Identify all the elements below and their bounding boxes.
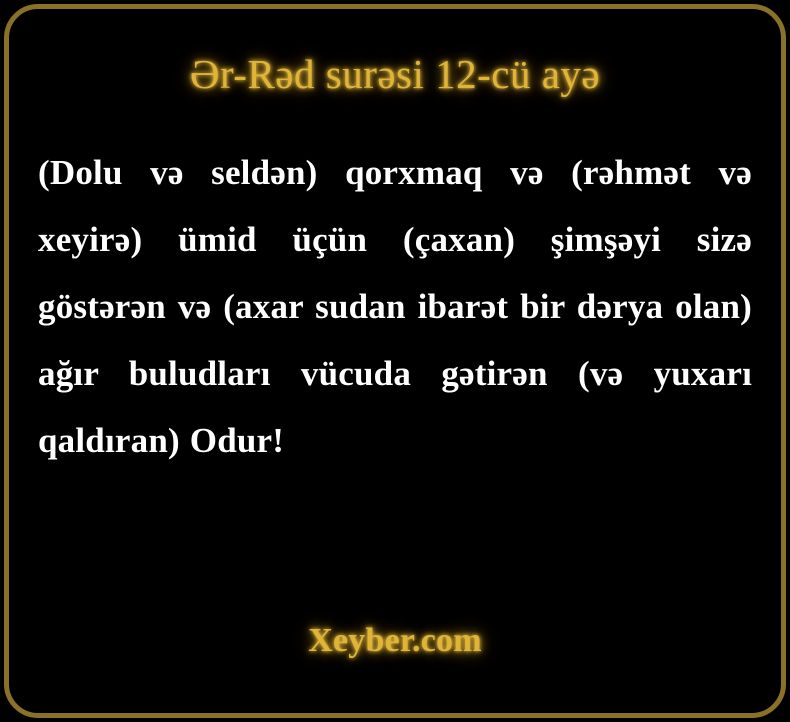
verse-card: Ər-Rəd surəsi 12-cü ayə (Dolu və seldən)…	[0, 0, 790, 722]
footer: Xeyber.com	[0, 622, 790, 660]
card-content: Ər-Rəd surəsi 12-cü ayə (Dolu və seldən)…	[0, 0, 790, 722]
verse-body-text: (Dolu və seldən) qorxmaq və (rəhmət və x…	[38, 97, 752, 474]
page-title: Ər-Rəd surəsi 12-cü ayə	[38, 0, 752, 97]
site-watermark: Xeyber.com	[308, 622, 482, 660]
